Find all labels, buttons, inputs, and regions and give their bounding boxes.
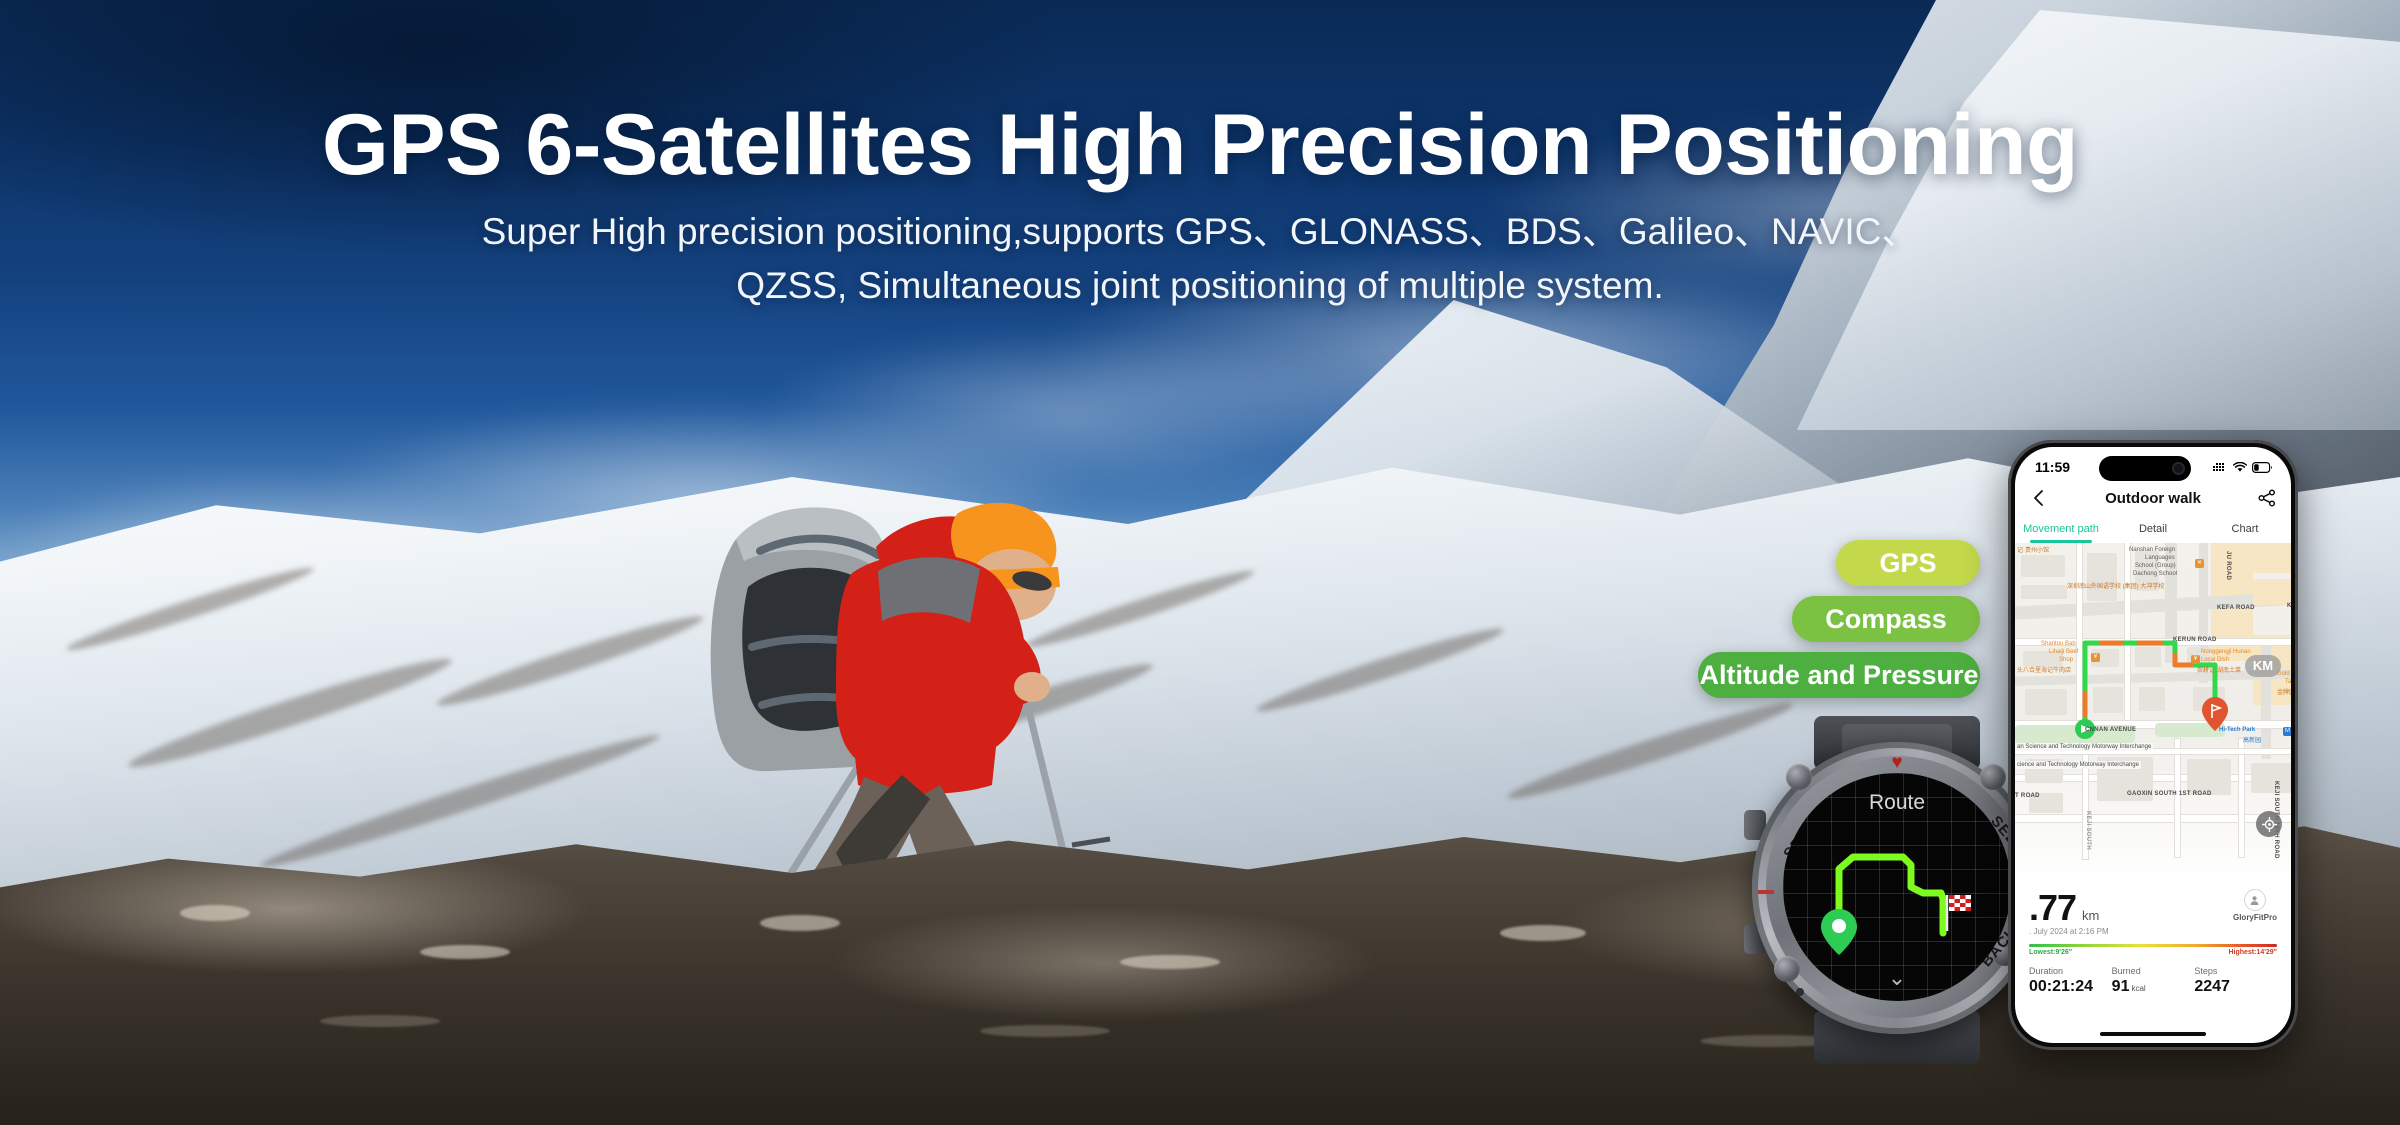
status-time: 11:59 <box>2035 459 2070 475</box>
status-bar: 11:59 <box>2015 447 2291 481</box>
share-icon <box>2257 488 2277 508</box>
tab-chart[interactable]: Chart <box>2199 515 2291 543</box>
map-road-label: KE <box>2287 603 2291 609</box>
watch-bezel: ♥ SPORT SEL BACK Route <box>1752 742 2042 1034</box>
map-poi-label: Shop <box>2059 657 2073 663</box>
user-icon <box>2249 895 2260 906</box>
map-label: an Science and Technology Motorway Inter… <box>2015 743 2153 751</box>
map-poi-label: Shantou Bab <box>2041 641 2076 647</box>
hero-banner: GPS 6-Satellites High Precision Position… <box>0 0 2400 1125</box>
subtitle-line-1: Super High precision positioning,support… <box>0 205 2400 259</box>
workout-summary: GloryFitPro .77 km . July 2024 at 2:16 P… <box>2015 881 2291 996</box>
map-label-cn: 深圳南山外国语学校 (集团) 大冲学校 <box>2067 581 2164 590</box>
map-label: Nanshan Foreign <box>2129 547 2175 553</box>
cellular-icon <box>2213 462 2228 473</box>
map-poi-label: Lihaiji Beef <box>2049 649 2078 655</box>
map-label: School (Group) <box>2135 563 2176 569</box>
map-label-cn: 头八合里海记牛肉店 <box>2017 665 2071 674</box>
battery-icon <box>2252 462 2273 473</box>
heart-icon: ♥ <box>1889 756 1905 770</box>
km-badge: KM <box>2245 655 2281 677</box>
map-label-cn: 高新园 <box>2243 735 2261 744</box>
screen-title: Outdoor walk <box>2105 490 2201 507</box>
route-map[interactable]: Nanshan Foreign Languages School (Group)… <box>2015 543 2291 881</box>
phone-screen: 11:59 <box>2015 447 2291 1043</box>
feature-badge-list: GPS Compass Altitude and Pressure <box>1460 540 1980 698</box>
pace-highest: Highest:14'29" <box>2228 949 2277 956</box>
pace-gradient-bar <box>2029 944 2277 947</box>
chevron-down-icon[interactable]: ⌄ <box>1783 967 2011 989</box>
workout-date: . July 2024 at 2:16 PM <box>2029 927 2277 936</box>
home-indicator[interactable] <box>2100 1032 2206 1036</box>
tab-detail[interactable]: Detail <box>2107 515 2199 543</box>
metric-number: 91 <box>2112 978 2130 995</box>
share-button[interactable] <box>2257 488 2277 508</box>
status-icons <box>2213 462 2273 473</box>
subtitle-line-2: QZSS, Simultaneous joint positioning of … <box>0 259 2400 313</box>
smartwatch: ♥ SPORT SEL BACK Route <box>1752 738 2042 1038</box>
map-road-label: KERUN ROAD <box>2173 637 2217 643</box>
map-poi-label: Tao <box>2285 679 2291 685</box>
map-label-cn: 农耕记·湖南土菜 <box>2197 665 2241 674</box>
nav-bar: Outdoor walk <box>2015 481 2291 515</box>
map-poi-marker[interactable]: ￥ <box>2091 653 2100 662</box>
page-title: GPS 6-Satellites High Precision Position… <box>0 96 2400 195</box>
distance-unit: km <box>2082 908 2099 923</box>
metric-label: Burned <box>2112 966 2195 976</box>
badge-gps: GPS <box>1836 540 1980 586</box>
page-subtitle: Super High precision positioning,support… <box>0 205 2400 312</box>
map-poi-marker[interactable]: ￥ <box>2191 655 2200 664</box>
map-label: Dachong School <box>2133 571 2177 577</box>
metric-value: 2247 <box>2194 978 2277 996</box>
map-road-label: GAOXIN SOUTH 1ST ROAD <box>2127 791 2212 797</box>
map-poi-marker-metro[interactable]: M <box>2283 727 2291 736</box>
map-road-label: CNNAN AVENUE <box>2085 727 2136 733</box>
map-road-label: JU ROAD <box>2225 551 2231 580</box>
locate-icon <box>2262 817 2277 832</box>
badge-altitude: Altitude and Pressure <box>1698 652 1980 698</box>
map-label: Languages <box>2145 555 2175 561</box>
map-poi-label: Local Dish <box>2201 657 2229 663</box>
map-label: cience and Technology Motorway Interchan… <box>2015 761 2141 769</box>
metric-label: Steps <box>2194 966 2277 976</box>
metric-label: Duration <box>2029 966 2112 976</box>
metrics-row: Duration 00:21:24 Burned 91kcal Steps 22… <box>2029 966 2277 996</box>
distance-value: .77 <box>2029 887 2076 929</box>
route-end-marker <box>2015 543 2291 881</box>
watch-screen[interactable]: Route ⌄ <box>1783 773 2011 1001</box>
brand-block: GloryFitPro <box>2233 889 2277 922</box>
map-poi-label: Nonggengji Hunan <box>2201 649 2251 655</box>
tab-movement-path[interactable]: Movement path <box>2015 515 2107 543</box>
metric-unit: kcal <box>2131 984 2145 993</box>
back-button[interactable] <box>2029 488 2049 508</box>
watch-bezel-tick <box>1758 890 1774 894</box>
brand-name: GloryFitPro <box>2233 913 2277 922</box>
smartphone: 11:59 <box>2008 440 2298 1050</box>
map-label: Hi-Tech Park <box>2219 727 2255 733</box>
map-poi-marker[interactable]: ✕ <box>2195 559 2204 568</box>
tab-bar: Movement path Detail Chart <box>2015 515 2291 543</box>
avatar <box>2244 889 2266 911</box>
map-road-label: T ROAD <box>2015 793 2040 799</box>
chevron-left-icon <box>2029 488 2049 508</box>
metric-value: 91kcal <box>2112 978 2195 996</box>
wifi-icon <box>2233 462 2247 473</box>
metric-value: 00:21:24 <box>2029 978 2112 996</box>
map-road-label: KEFA ROAD <box>2217 605 2255 611</box>
pace-labels: Lowest:9'26" Highest:14'29" <box>2029 949 2277 956</box>
pace-lowest: Lowest:9'26" <box>2029 949 2072 956</box>
metric-burned: Burned 91kcal <box>2112 966 2195 996</box>
map-road-label: KEJI SOUTH <box>2085 811 2091 850</box>
map-label-cn: 记·贵州小馆 <box>2017 545 2049 554</box>
locate-button[interactable] <box>2256 811 2282 837</box>
metric-duration: Duration 00:21:24 <box>2029 966 2112 996</box>
badge-compass: Compass <box>1792 596 1980 642</box>
map-label-cn: 金牌园 <box>2277 687 2291 696</box>
metric-steps: Steps 2247 <box>2194 966 2277 996</box>
